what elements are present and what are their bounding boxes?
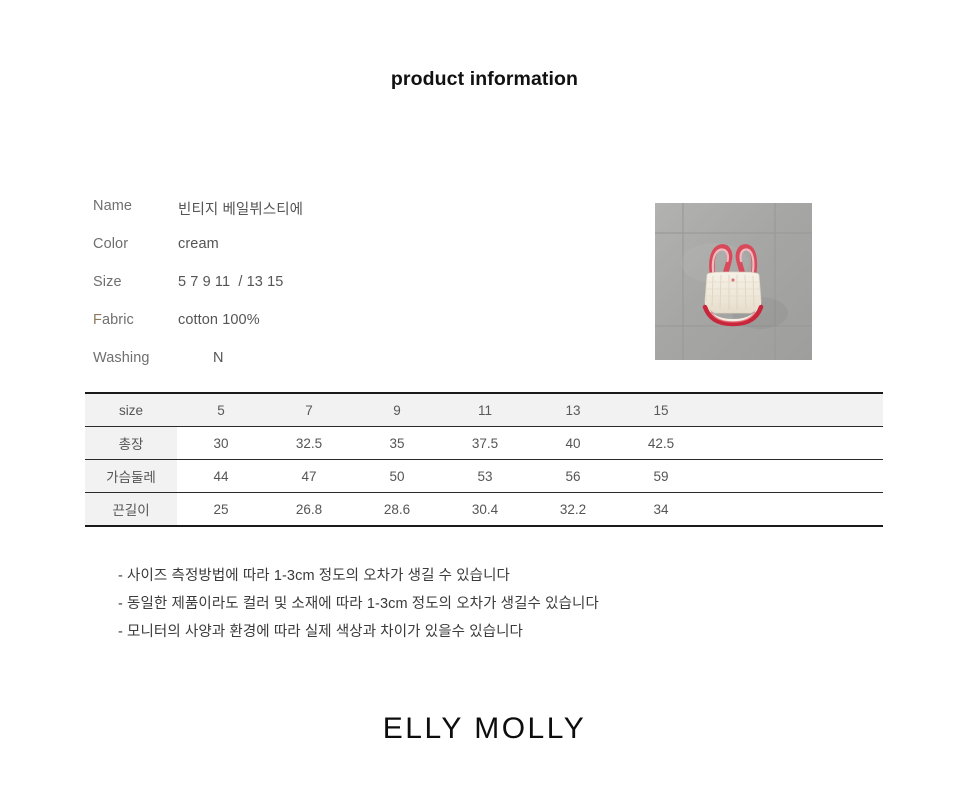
cell-strap-length-9: 28.6 [353,493,441,527]
header-cell-9: 9 [353,393,441,427]
note-line-measurement: - 사이즈 측정방법에 따라 1-3cm 정도의 오차가 생길 수 있습니다 [118,562,878,590]
product-photo [655,203,812,360]
cell-chest-15: 59 [617,460,705,493]
row-label-chest: 가슴둘레 [85,460,177,493]
cell-total-length-15: 42.5 [617,427,705,460]
info-row-fabric: Fabric cotton 100% [93,312,573,350]
info-label-name: Name [93,198,132,214]
brand-logo-text: ELLY MOLLY [0,712,969,746]
cell-strap-length-7: 26.8 [265,493,353,527]
info-row-color: Color cream [93,236,573,274]
product-photo-image [655,203,812,360]
cell-chest-9: 50 [353,460,441,493]
cell-strap-length-5: 25 [177,493,265,527]
header-cell-7: 7 [265,393,353,427]
header-cell-11: 11 [441,393,529,427]
page-title: product information [0,68,969,91]
info-value-size: 5 7 9 11 / 13 15 [178,274,283,290]
header-cell-empty [705,393,883,427]
cell-strap-length-13: 32.2 [529,493,617,527]
cell-total-length-7: 32.5 [265,427,353,460]
info-value-name: 빈티지 베일뷔스티에 [178,198,303,219]
cell-total-length-5: 30 [177,427,265,460]
header-cell-size: size [85,393,177,427]
cell-total-length-13: 40 [529,427,617,460]
header-cell-13: 13 [529,393,617,427]
note-line-color-material: - 동일한 제품이라도 컬러 및 소재에 따라 1-3cm 정도의 오차가 생길… [118,590,878,618]
table-row: 끈길이 25 26.8 28.6 30.4 32.2 34 [85,493,883,527]
cell-chest-11: 53 [441,460,529,493]
fabric-label-initial: F [93,312,102,328]
cell-chest-7: 47 [265,460,353,493]
info-label-washing: Washing [93,350,150,366]
header-cell-5: 5 [177,393,265,427]
size-chart: size 5 7 9 11 13 15 총장 30 32.5 35 37.5 4… [85,392,883,527]
product-info-list: Name 빈티지 베일뷔스티에 Color cream Size 5 7 9 1… [93,198,573,388]
row-label-strap-length: 끈길이 [85,493,177,527]
table-header-row: size 5 7 9 11 13 15 [85,393,883,427]
size-table: size 5 7 9 11 13 15 총장 30 32.5 35 37.5 4… [85,392,883,527]
cell-chest-empty [705,460,883,493]
cell-strap-length-11: 30.4 [441,493,529,527]
note-line-monitor: - 모니터의 사양과 환경에 따라 실제 색상과 차이가 있을수 있습니다 [118,618,878,646]
info-label-fabric: Fabric [93,312,134,328]
info-value-color: cream [178,236,219,252]
cell-chest-13: 56 [529,460,617,493]
table-row: 가슴둘레 44 47 50 53 56 59 [85,460,883,493]
info-row-washing: Washing N [93,350,573,388]
cell-total-length-9: 35 [353,427,441,460]
cell-strap-length-15: 34 [617,493,705,527]
cell-strap-length-empty [705,493,883,527]
info-row-size: Size 5 7 9 11 / 13 15 [93,274,573,312]
disclaimer-notes: - 사이즈 측정방법에 따라 1-3cm 정도의 오차가 생길 수 있습니다 -… [118,562,878,646]
info-label-size: Size [93,274,122,290]
info-value-fabric: cotton 100% [178,312,260,328]
cell-total-length-empty [705,427,883,460]
cell-chest-5: 44 [177,460,265,493]
table-row: 총장 30 32.5 35 37.5 40 42.5 [85,427,883,460]
cell-total-length-11: 37.5 [441,427,529,460]
info-row-name: Name 빈티지 베일뷔스티에 [93,198,573,236]
info-value-washing: N [213,350,224,366]
header-cell-15: 15 [617,393,705,427]
row-label-total-length: 총장 [85,427,177,460]
info-label-color: Color [93,236,128,252]
